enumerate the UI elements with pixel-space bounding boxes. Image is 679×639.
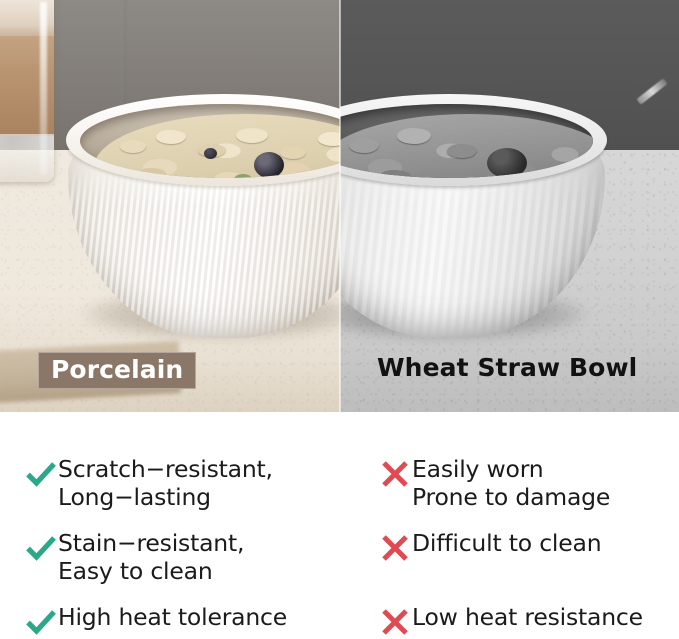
granola-food	[94, 114, 340, 178]
pros-column: Scratch−resistant, Long−lasting Stain−re…	[0, 412, 340, 635]
food-chunk	[397, 128, 431, 144]
feature-label: Low heat resistance	[412, 604, 643, 632]
split-comparison-photo: Porcelain Wheat Straw Bowl	[0, 0, 679, 412]
food-chunk	[349, 138, 379, 153]
porcelain-bowl	[60, 80, 340, 370]
photo-half-porcelain	[0, 0, 340, 412]
porcelain-label: Porcelain	[38, 352, 196, 389]
feature-row: High heat tolerance	[24, 604, 287, 639]
feature-label: High heat tolerance	[58, 604, 287, 632]
feature-label: Difficult to clean	[412, 530, 601, 558]
product-comparison-graphic: Porcelain Wheat Straw Bowl Scratch−resis…	[0, 0, 679, 635]
pumpkin-seed	[234, 174, 252, 178]
granola-flake	[156, 130, 186, 144]
glass-highlight	[40, 2, 47, 174]
check-icon	[24, 457, 58, 491]
food-chunk	[447, 144, 477, 158]
wheat-straw-label: Wheat Straw Bowl	[377, 355, 637, 380]
cross-icon	[378, 531, 412, 565]
porcelain-scene	[0, 0, 340, 412]
bowl-interior	[340, 104, 593, 178]
granola-flake	[280, 146, 306, 159]
cross-icon	[378, 605, 412, 639]
blueberry	[204, 148, 217, 159]
feature-row: Difficult to clean	[378, 530, 601, 565]
check-icon	[24, 531, 58, 565]
food-chunk	[379, 170, 411, 178]
feature-row: Stain−resistant, Easy to clean	[24, 530, 244, 586]
latte-glass	[0, 0, 54, 182]
granola-flake	[318, 132, 340, 146]
split-divider	[339, 0, 341, 412]
feature-row: Low heat resistance	[378, 604, 643, 639]
feature-label: Scratch−resistant, Long−lasting	[58, 456, 273, 512]
food-contents	[340, 114, 593, 178]
wheat-straw-scene	[340, 0, 679, 412]
feature-row: Scratch−resistant, Long−lasting	[24, 456, 273, 512]
photo-half-wheat-straw	[340, 0, 679, 412]
granola-flake	[120, 140, 146, 153]
check-icon	[24, 605, 58, 639]
bowl-interior	[80, 104, 340, 178]
wheat-straw-bowl	[340, 80, 615, 370]
cross-icon	[378, 457, 412, 491]
granola-flake	[294, 170, 322, 178]
dark-food-item	[487, 148, 527, 178]
feature-row: Easily worn Prone to damage	[378, 456, 610, 512]
food-chunk	[449, 174, 477, 178]
feature-label: Easily worn Prone to damage	[412, 456, 610, 512]
granola-flake	[138, 168, 166, 178]
granola-flake	[236, 128, 268, 143]
feature-label: Stain−resistant, Easy to clean	[58, 530, 244, 586]
blueberry	[254, 152, 284, 178]
cons-column: Easily worn Prone to damage Difficult to…	[340, 412, 679, 635]
feature-comparison-section: Scratch−resistant, Long−lasting Stain−re…	[0, 412, 679, 635]
